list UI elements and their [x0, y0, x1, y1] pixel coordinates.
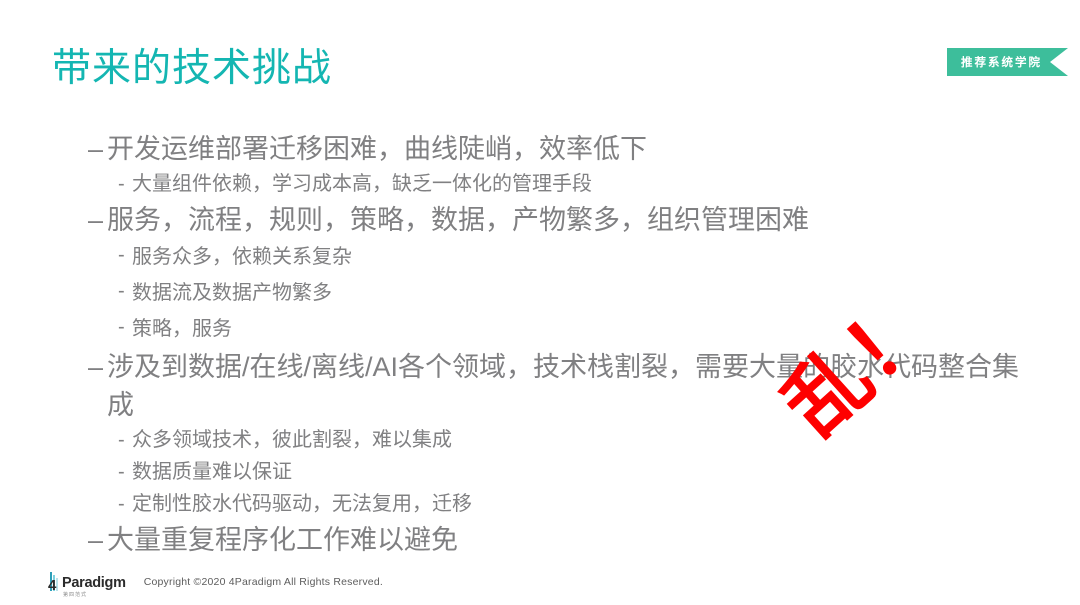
- sub-list-item: - 服务众多，依赖关系复杂: [88, 240, 1038, 275]
- hyphen-marker-icon: -: [118, 240, 132, 271]
- list-item: – 涉及到数据/在线/离线/AI各个领域，技术栈割裂，需要大量的胶水代码整合集成: [88, 348, 1038, 424]
- logo-subtext: 第四范式: [63, 591, 87, 598]
- logo-wordmark: Paradigm: [62, 576, 126, 591]
- dash-marker-icon: –: [88, 201, 107, 239]
- chevron-left-icon: [1050, 48, 1068, 76]
- logo-numeral: 4: [48, 578, 56, 593]
- list-item: – 大量重复程序化工作难以避免: [88, 521, 1038, 559]
- sub-list-item-label: 众多领域技术，彼此割裂，难以集成: [132, 425, 1038, 456]
- sub-list-item-label: 数据质量难以保证: [132, 457, 1038, 488]
- slide: 带来的技术挑战 推荐系统学院 – 开发运维部署迁移困难，曲线陡峭，效率低下 - …: [0, 0, 1080, 605]
- brand-logo: 4 Paradigm 第四范式: [48, 572, 126, 591]
- course-badge: 推荐系统学院: [947, 48, 1068, 76]
- dash-marker-icon: –: [88, 521, 107, 559]
- bullet-group: – 大量重复程序化工作难以避免: [88, 521, 1038, 559]
- sub-list-item-label: 策略，服务: [132, 312, 1038, 347]
- page-title: 带来的技术挑战: [52, 46, 332, 92]
- bullet-group: – 服务，流程，规则，策略，数据，产物繁多，组织管理困难 - 服务众多，依赖关系…: [88, 201, 1038, 347]
- list-item-label: 开发运维部署迁移困难，曲线陡峭，效率低下: [107, 130, 1038, 168]
- sub-list-item-label: 定制性胶水代码驱动，无法复用，迁移: [132, 489, 1038, 520]
- hyphen-marker-icon: -: [118, 312, 132, 343]
- list-item: – 开发运维部署迁移困难，曲线陡峭，效率低下: [88, 130, 1038, 168]
- dash-marker-icon: –: [88, 348, 107, 386]
- sub-list-item-label: 大量组件依赖，学习成本高，缺乏一体化的管理手段: [132, 169, 1038, 200]
- sub-list-item-label: 服务众多，依赖关系复杂: [132, 240, 1038, 275]
- list-item-label: 大量重复程序化工作难以避免: [107, 521, 1038, 559]
- hyphen-marker-icon: -: [118, 276, 132, 307]
- bullet-group: – 涉及到数据/在线/离线/AI各个领域，技术栈割裂，需要大量的胶水代码整合集成…: [88, 348, 1038, 520]
- sub-list-item: - 众多领域技术，彼此割裂，难以集成: [88, 425, 1038, 456]
- dash-marker-icon: –: [88, 130, 107, 168]
- hyphen-marker-icon: -: [118, 169, 132, 200]
- sub-list-item: - 大量组件依赖，学习成本高，缺乏一体化的管理手段: [88, 169, 1038, 200]
- sub-list-item: - 定制性胶水代码驱动，无法复用，迁移: [88, 489, 1038, 520]
- sub-list-item: - 策略，服务: [88, 312, 1038, 347]
- bullet-group: – 开发运维部署迁移困难，曲线陡峭，效率低下 - 大量组件依赖，学习成本高，缺乏…: [88, 130, 1038, 200]
- footer: 4 Paradigm 第四范式 Copyright ©2020 4Paradig…: [48, 572, 383, 591]
- sub-list-item: - 数据质量难以保证: [88, 457, 1038, 488]
- logo-mark-icon: 4: [48, 572, 61, 591]
- sub-list-item: - 数据流及数据产物繁多: [88, 276, 1038, 311]
- hyphen-marker-icon: -: [118, 489, 132, 520]
- course-badge-label: 推荐系统学院: [961, 54, 1042, 70]
- sub-list-item-label: 数据流及数据产物繁多: [132, 276, 1038, 311]
- hyphen-marker-icon: -: [118, 425, 132, 456]
- bullet-list: – 开发运维部署迁移困难，曲线陡峭，效率低下 - 大量组件依赖，学习成本高，缺乏…: [88, 130, 1038, 560]
- list-item: – 服务，流程，规则，策略，数据，产物繁多，组织管理困难: [88, 201, 1038, 239]
- hyphen-marker-icon: -: [118, 457, 132, 488]
- list-item-label: 服务，流程，规则，策略，数据，产物繁多，组织管理困难: [107, 201, 1038, 239]
- copyright-text: Copyright ©2020 4Paradigm All Rights Res…: [144, 576, 383, 588]
- list-item-label: 涉及到数据/在线/离线/AI各个领域，技术栈割裂，需要大量的胶水代码整合集成: [107, 348, 1038, 424]
